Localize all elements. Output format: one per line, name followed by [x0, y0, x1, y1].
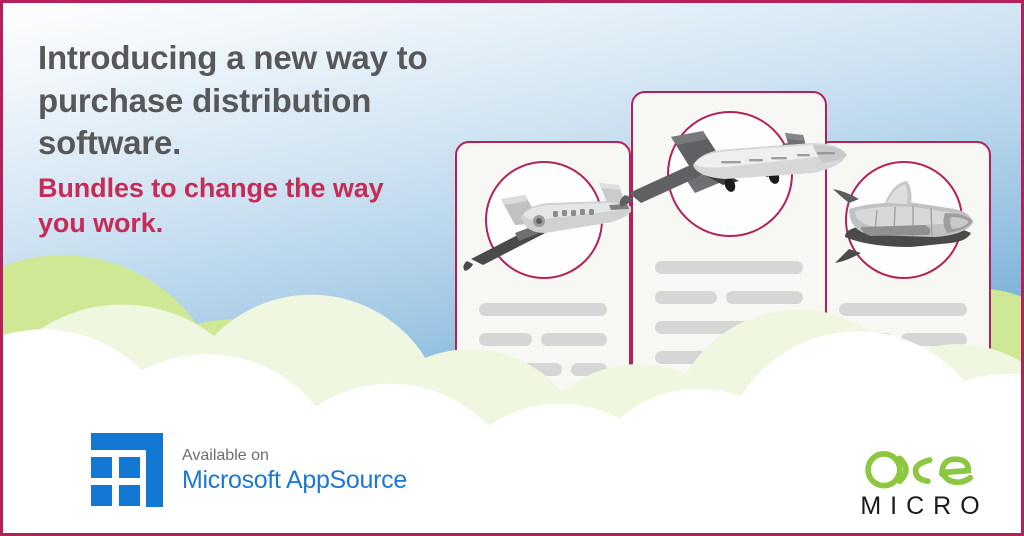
ace-interlock-icon — [852, 446, 988, 490]
appsource-available-label: Available on — [182, 448, 407, 464]
ace-micro-subword: MICRO — [845, 492, 995, 521]
appsource-store-name: Microsoft AppSource — [182, 468, 407, 493]
advertisement-banner: Introducing a new way to purchase distri… — [0, 0, 1024, 536]
headline: Introducing a new way to purchase distri… — [38, 37, 508, 165]
subheadline: Bundles to change the way you work. — [38, 171, 458, 240]
ace-micro-logo[interactable]: MICRO — [845, 446, 995, 521]
appsource-text: Available on Microsoft AppSource — [182, 448, 407, 493]
headline-line-2: purchase distribution software. — [38, 80, 508, 165]
subheadline-line-2: you work. — [38, 206, 458, 241]
microsoft-appsource-badge[interactable]: Available on Microsoft AppSource — [91, 433, 407, 507]
appsource-grid-icon — [91, 433, 165, 507]
subheadline-line-1: Bundles to change the way — [38, 171, 458, 206]
headline-line-1: Introducing a new way to — [38, 37, 508, 80]
